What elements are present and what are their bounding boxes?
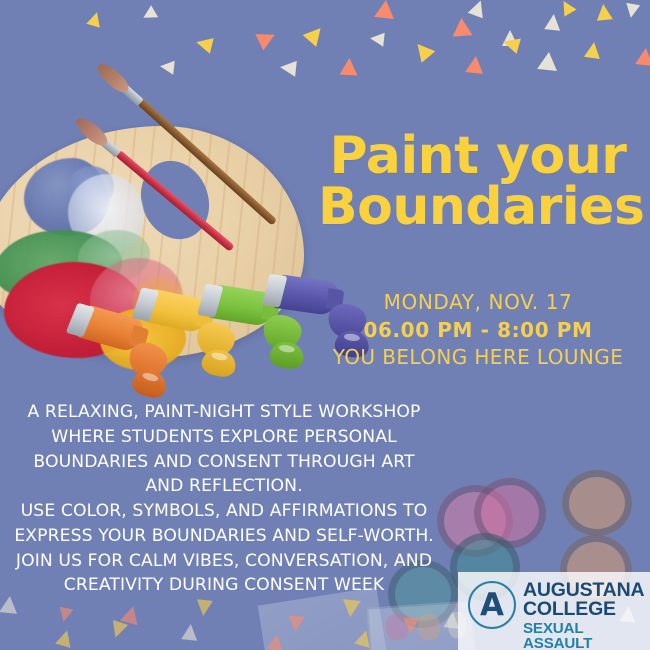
event-time: 06.00 PM - 8:00 PM — [318, 317, 638, 345]
logo-line-college: COLLEGE — [523, 600, 650, 619]
can-rim — [562, 470, 632, 536]
confetti-triangle — [502, 30, 518, 46]
augustana-logo: A AUGUSTANA COLLEGE SEXUAL ASSAULT PREVE… — [458, 572, 650, 650]
confetti-triangle — [255, 27, 278, 51]
confetti-triangle — [468, 0, 489, 18]
confetti-triangle — [501, 34, 521, 54]
confetti-triangle — [369, 31, 384, 46]
description-line: CREATIVITY DURING CONSENT WEEK — [0, 573, 448, 598]
confetti-triangle — [279, 59, 297, 77]
description-line: WHERE STUDENTS EXPLORE PERSONAL — [0, 425, 448, 450]
confetti-triangle — [557, 0, 576, 17]
confetti-triangle — [140, 5, 158, 24]
description-line: A RELAXING, PAINT-NIGHT STYLE WORKSHOP — [0, 400, 448, 425]
paint-palette-illustration — [0, 108, 322, 398]
event-location: YOU BELONG HERE LOUNGE — [318, 344, 638, 372]
confetti-triangle — [451, 17, 472, 36]
paint-can-tan — [562, 470, 632, 536]
logo-text-block: AUGUSTANA COLLEGE SEXUAL ASSAULT PREVENT… — [518, 579, 650, 650]
confetti-triangle — [624, 3, 640, 19]
event-description: A RELAXING, PAINT-NIGHT STYLE WORKSHOP W… — [0, 400, 448, 598]
confetti-triangle — [108, 620, 128, 640]
confetti-triangle — [195, 599, 213, 617]
confetti-triangle — [181, 623, 199, 641]
description-line: BOUNDARIES AND CONSENT THROUGH ART — [0, 450, 448, 475]
confetti-triangle — [57, 607, 74, 624]
confetti-triangle — [544, 13, 562, 31]
confetti-triangle — [86, 10, 103, 27]
description-line: EXPRESS YOUR BOUNDARIES AND SELF-WORTH. — [0, 524, 448, 549]
brush-bristles — [94, 60, 132, 97]
logo-letter: A — [466, 579, 518, 631]
confetti-triangle — [159, 59, 174, 74]
event-date: MONDAY, NOV. 17 — [318, 289, 638, 317]
confetti-triangle — [340, 58, 359, 76]
page-title: Paint your Boundaries — [318, 131, 638, 233]
confetti-triangle — [374, 0, 396, 19]
watercolor-pan-peach — [417, 613, 441, 640]
watercolor-pan-pink — [385, 613, 409, 640]
event-details: MONDAY, NOV. 17 06.00 PM - 8:00 PM YOU B… — [318, 289, 638, 372]
confetti-triangle — [411, 38, 436, 63]
confetti-triangle — [120, 604, 142, 625]
logo-line-sexual-assault: SEXUAL ASSAULT — [523, 621, 650, 650]
description-line: USE COLOR, SYMBOLS, AND AFFIRMATIONS TO — [0, 499, 448, 524]
confetti-triangle — [55, 628, 75, 648]
augustana-a-icon: A — [466, 579, 518, 631]
confetti-triangle — [595, 3, 613, 21]
confetti-triangle — [537, 51, 559, 71]
description-line: AND REFLECTION. — [0, 474, 448, 499]
confetti-triangle — [465, 55, 485, 74]
poster-canvas: Paint your Boundaries MONDAY, NOV. 17 06… — [0, 0, 650, 650]
description-line: JOIN US FOR CALM VIBES, CONVERSATION, AN… — [0, 549, 448, 574]
title-line-2: Boundaries — [318, 182, 638, 233]
confetti-triangle — [635, 47, 650, 66]
confetti-triangle — [584, 41, 602, 59]
confetti-triangle — [194, 34, 213, 53]
confetti-triangle — [303, 22, 328, 47]
